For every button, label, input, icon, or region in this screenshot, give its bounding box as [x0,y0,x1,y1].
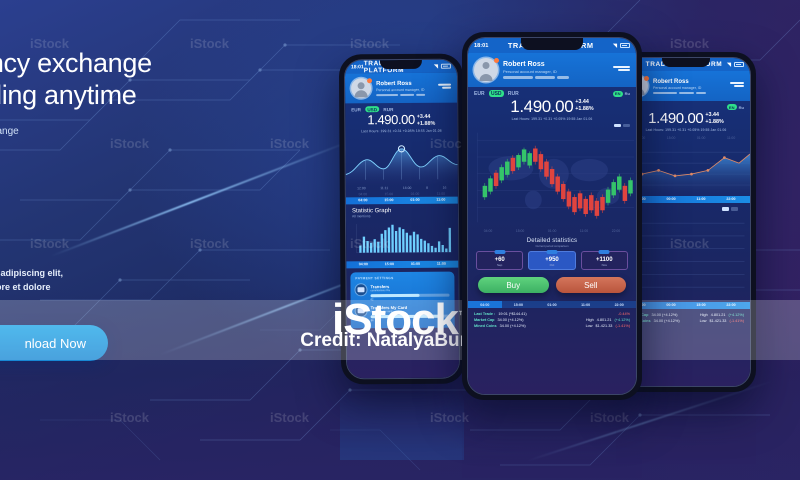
ticker-key: Market Cap [474,318,494,322]
price-value: 1.490.00 [648,111,703,126]
card-tab-icon [494,250,505,254]
profile-progress [376,93,425,95]
candlestick-chart [468,129,636,228]
profile-progress [653,92,706,94]
status-time: 18:01 [351,64,364,70]
menu-icon[interactable] [613,66,630,71]
user-name: Robert Ross [376,80,425,86]
profile-header[interactable]: Robert Ross Personal account manager, ID [468,53,636,87]
card-tab-icon [599,250,610,254]
axis-tick: 8 [426,186,428,190]
axis-strip-tick[interactable]: 01:00 [411,262,420,266]
menu-icon[interactable] [730,82,744,87]
profile-header[interactable]: Robert Ross Personal account manager, ID [345,73,457,104]
axis-tick: 15:00 [667,136,676,140]
notification-dot [367,78,372,83]
signal-icon: ◥ [727,62,731,68]
price-delta-pct: +1.88% [575,106,593,113]
statistic-bar-chart [346,220,458,259]
axis-strip-tick[interactable]: 15:00 [385,262,394,266]
language-toggle[interactable]: EN Ru [727,104,744,110]
detailed-statistics-header[interactable]: Detailed statistics Current period compa… [468,234,636,251]
ticker-value2: $1.421.33 [596,324,613,328]
payment-item-desc: commissions 0% [370,289,449,293]
axis-tick: 01:00 [411,192,420,196]
chart-range-tabs[interactable] [716,207,744,210]
promo-headline-line1: urrency exchange [0,48,152,78]
axis-tick: 01:00 [548,229,557,233]
promo-uiux-sub: Mobile App [0,223,262,235]
axis-tick: 15:00 [385,192,394,196]
user-name: Robert Ross [653,79,706,85]
battery-icon [441,64,451,69]
last-hours: Last Hours: 199.31 +0.31 +0.05% 19:55 Ja… [349,129,453,134]
promo-copy: urrency exchange , trading anytime ons f… [0,48,262,295]
price-block: 1.490.00 +3.44 +1.88% Last Hours: 199.31… [468,97,636,124]
axis-tick: 12:00 [357,186,366,190]
axis-strip-tick[interactable]: 15:00 [384,198,393,202]
time-strip-tick[interactable]: 01:00 [535,301,569,308]
axis-tick: 11:11 [380,186,388,190]
phone-notch [380,60,422,69]
ticker-extra: (+4.12%) [614,318,630,322]
promo-headline-line2: , trading anytime [0,80,262,112]
currency-rur[interactable]: RUR [383,107,393,112]
axis-tick: 22:00 [612,229,621,233]
detailed-statistics-sub: Current period comparison [468,244,636,248]
axis-tick: 11:00 [727,136,735,140]
axis-tick: 04:00 [484,229,493,233]
axis-tick: 11:00 [437,192,445,196]
ticker-list: Last Trade : 19:01 (*$144.41) -0.44% Mar… [468,308,636,329]
axis-tick: 15:00 [516,229,525,233]
time-strip-tick[interactable]: 22:00 [602,301,636,308]
ticker-key: Mined Coins [474,324,497,328]
promo-lorem-line1: , consectetur adipiscing elit, [0,267,262,281]
sell-button[interactable]: Sell [556,277,627,293]
currency-rur[interactable]: RUR [508,91,519,97]
ticker-value: 34.00 (+4.12%) [500,324,526,328]
screenshot-root: urrency exchange , trading anytime ons f… [0,0,800,480]
axis-strip-tick[interactable]: 11:00 [437,262,446,266]
lang-ru[interactable]: Ru [625,91,630,96]
price-delta-pct: +1.88% [705,119,723,126]
promo-lorem: , consectetur adipiscing elit, didunt ut… [0,267,262,295]
currency-eur[interactable]: EUR [351,107,361,112]
trade-buttons: Buy Sell [468,270,636,297]
stat-card-nov[interactable]: +1100 Nov [581,251,628,270]
currency-eur[interactable]: EUR [474,91,485,97]
price-block: 1.490.00 +3.44 +1.88% Last Hours: 199.31… [345,112,457,136]
avatar [474,58,498,82]
language-toggle[interactable]: EN Ru [613,91,630,97]
time-strip-tick[interactable]: 04:00 [468,301,502,308]
axis-strip-tick[interactable]: 04:00 [359,263,368,267]
price-delta-pct: +1.88% [417,121,435,128]
time-strip-tick[interactable]: 15:00 [502,301,536,308]
phone-notch [521,38,583,50]
ticker-value: 34.00 (+4.12%) [497,318,523,322]
stat-card-oct[interactable]: +950 Oct [528,251,575,270]
price-delta-abs: +3.44 [575,99,593,106]
stat-card-sep[interactable]: +60 Sep [476,251,523,270]
axis-strip-tick[interactable]: 01:00 [410,198,419,202]
axis-strip-tick[interactable]: 04:00 [358,199,367,203]
axis-tick: 11:00 [580,229,588,233]
price-value: 1.490.00 [510,98,573,115]
time-strip-tick[interactable]: 11:00 [569,301,603,308]
ticker-row: Mined Coins 34.00 (+4.12%) Low $1.421.33… [474,323,630,329]
ticker-extra: (-1.41%) [615,324,630,328]
price-wave-chart [345,137,457,185]
currency-usd[interactable]: USD [489,90,504,97]
ticker-label2: High [586,318,594,322]
last-hours: Last Hours: 199.31 +0.31 +0.05% 19:55 Ja… [472,117,632,121]
watermark-credit: Credit: NatalyaBurova [0,330,800,352]
user-name: Robert Ross [503,61,569,68]
menu-icon[interactable] [438,84,451,89]
lang-ru[interactable]: Ru [739,105,744,110]
promo-subline: ons for exchange [0,126,262,137]
profile-progress [503,76,569,78]
axis-tick: 16 [443,186,447,190]
ticker-value: 19:01 (*$144.41) [498,312,526,316]
card-icon [355,284,366,295]
axis-tick: 16:00 [403,186,412,190]
candlestick-axis: 04:00 15:00 01:00 11:00 22:00 [468,228,636,234]
axis-tick: 01:00 [697,136,706,140]
ticker-label2: Low [586,324,593,328]
stat-card-month: Nov [584,263,625,267]
ticker-value2: 4.801.21 [597,318,612,322]
stat-card-month: Oct [531,263,572,267]
price-value: 1.490.00 [367,113,414,126]
buy-button[interactable]: Buy [478,277,549,293]
stat-card-month: Sep [479,263,520,267]
signal-icon: ◥ [613,43,617,49]
notification-dot [494,58,499,63]
axis-tick: 04:00 [359,192,368,196]
axis-strip-tick[interactable]: 22:00 [726,197,735,201]
axis-strip-tick[interactable]: 00:00 [666,197,675,201]
lang-en[interactable]: EN [727,104,737,110]
axis-strip-tick[interactable]: 11:00 [436,198,445,202]
battery-icon [620,43,630,48]
time-strip[interactable]: 04:00 15:00 01:00 11:00 22:00 [468,301,636,308]
battery-icon [734,62,744,67]
axis-strip-tick[interactable]: 11:00 [697,197,706,201]
notification-dot [644,76,649,81]
promo-lorem-line2: didunt ut labore et dolore [0,281,262,295]
user-meta: Personal account manager, ID [503,69,569,74]
signal-icon: ◥ [434,63,438,69]
price-delta-abs: +3.44 [705,112,723,119]
last-hours: Last Hours: 199.31 +0.31 +0.05% 19:55 Ja… [626,128,746,132]
phone-notch [662,58,710,67]
avatar [351,78,371,98]
currency-selector[interactable]: EUR USD RUR EN Ru [468,87,636,97]
phone-center: 18:01 TRADING PLATFORM ◥ Robert Ross Per… [462,32,642,400]
ticker-extra: -0.44% [618,312,630,316]
stat-cards: +60 Sep +950 Oct +1100 Nov [468,251,636,270]
chart-range-tabs[interactable] [468,124,636,127]
promo-headline: urrency exchange , trading anytime [0,48,262,112]
payment-settings-title: PAYMENT SETTINGS [355,276,449,281]
card-tab-icon [546,250,557,254]
user-meta: Personal account manager, ID [376,87,425,91]
ticker-key: Last Trade : [474,312,495,316]
chart-axis-dim: 04:00 15:00 01:00 11:00 [346,190,458,197]
user-meta: Personal account manager, ID [653,86,706,90]
chart-axis-strip-2[interactable]: 04:00 15:00 01:00 11:00 [346,260,458,268]
lang-en[interactable]: EN [613,91,623,97]
status-time: 18:01 [474,43,488,49]
app-screen-center: 18:01 TRADING PLATFORM ◥ Robert Ross Per… [468,38,636,394]
promo-uiux-title: I/UX [0,189,262,221]
